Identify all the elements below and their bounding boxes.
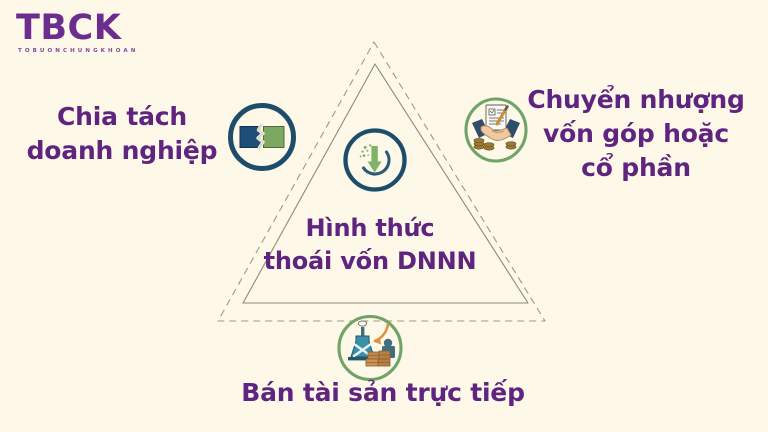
label-chuyen-nhuong: Chuyển nhượng vốn góp hoặc cổ phần: [512, 83, 760, 185]
label-chuyen-nhuong-line2: vốn góp hoặc: [512, 117, 760, 151]
label-center-line2: thoái vốn DNNN: [250, 245, 490, 278]
label-center-title: Hình thức thoái vốn DNNN: [250, 212, 490, 278]
brand-logo: TBCK TOBUONCHUNGKHOAN: [16, 10, 196, 54]
factory-assets-sale-icon: [348, 321, 395, 366]
label-chuyen-nhuong-line3: cổ phần: [512, 151, 760, 185]
infographic-canvas: TBCK TOBUONCHUNGKHOAN: [0, 0, 768, 432]
split-company-icon: [240, 125, 284, 149]
label-center-line1: Hình thức: [250, 212, 490, 245]
label-chia-tach-line1: Chia tách: [22, 100, 222, 134]
node-icon-chia-tach[interactable]: [225, 100, 299, 174]
divest-down-arrow-icon: [360, 144, 395, 179]
node-icon-trung-tam[interactable]: [341, 126, 409, 194]
label-chia-tach: Chia tách doanh nghiệp: [22, 100, 222, 168]
logo-wordmark: TBCK: [16, 10, 196, 46]
label-ban-tai-san-line1: Bán tài sản trực tiếp: [208, 378, 558, 408]
logo-tagline: TOBUONCHUNGKHOAN: [18, 48, 196, 54]
label-chuyen-nhuong-line1: Chuyển nhượng: [512, 83, 760, 117]
label-ban-tai-san: Bán tài sản trực tiếp: [208, 378, 558, 408]
label-chia-tach-line2: doanh nghiệp: [22, 134, 222, 168]
node-icon-ban-tai-san[interactable]: [332, 310, 408, 386]
